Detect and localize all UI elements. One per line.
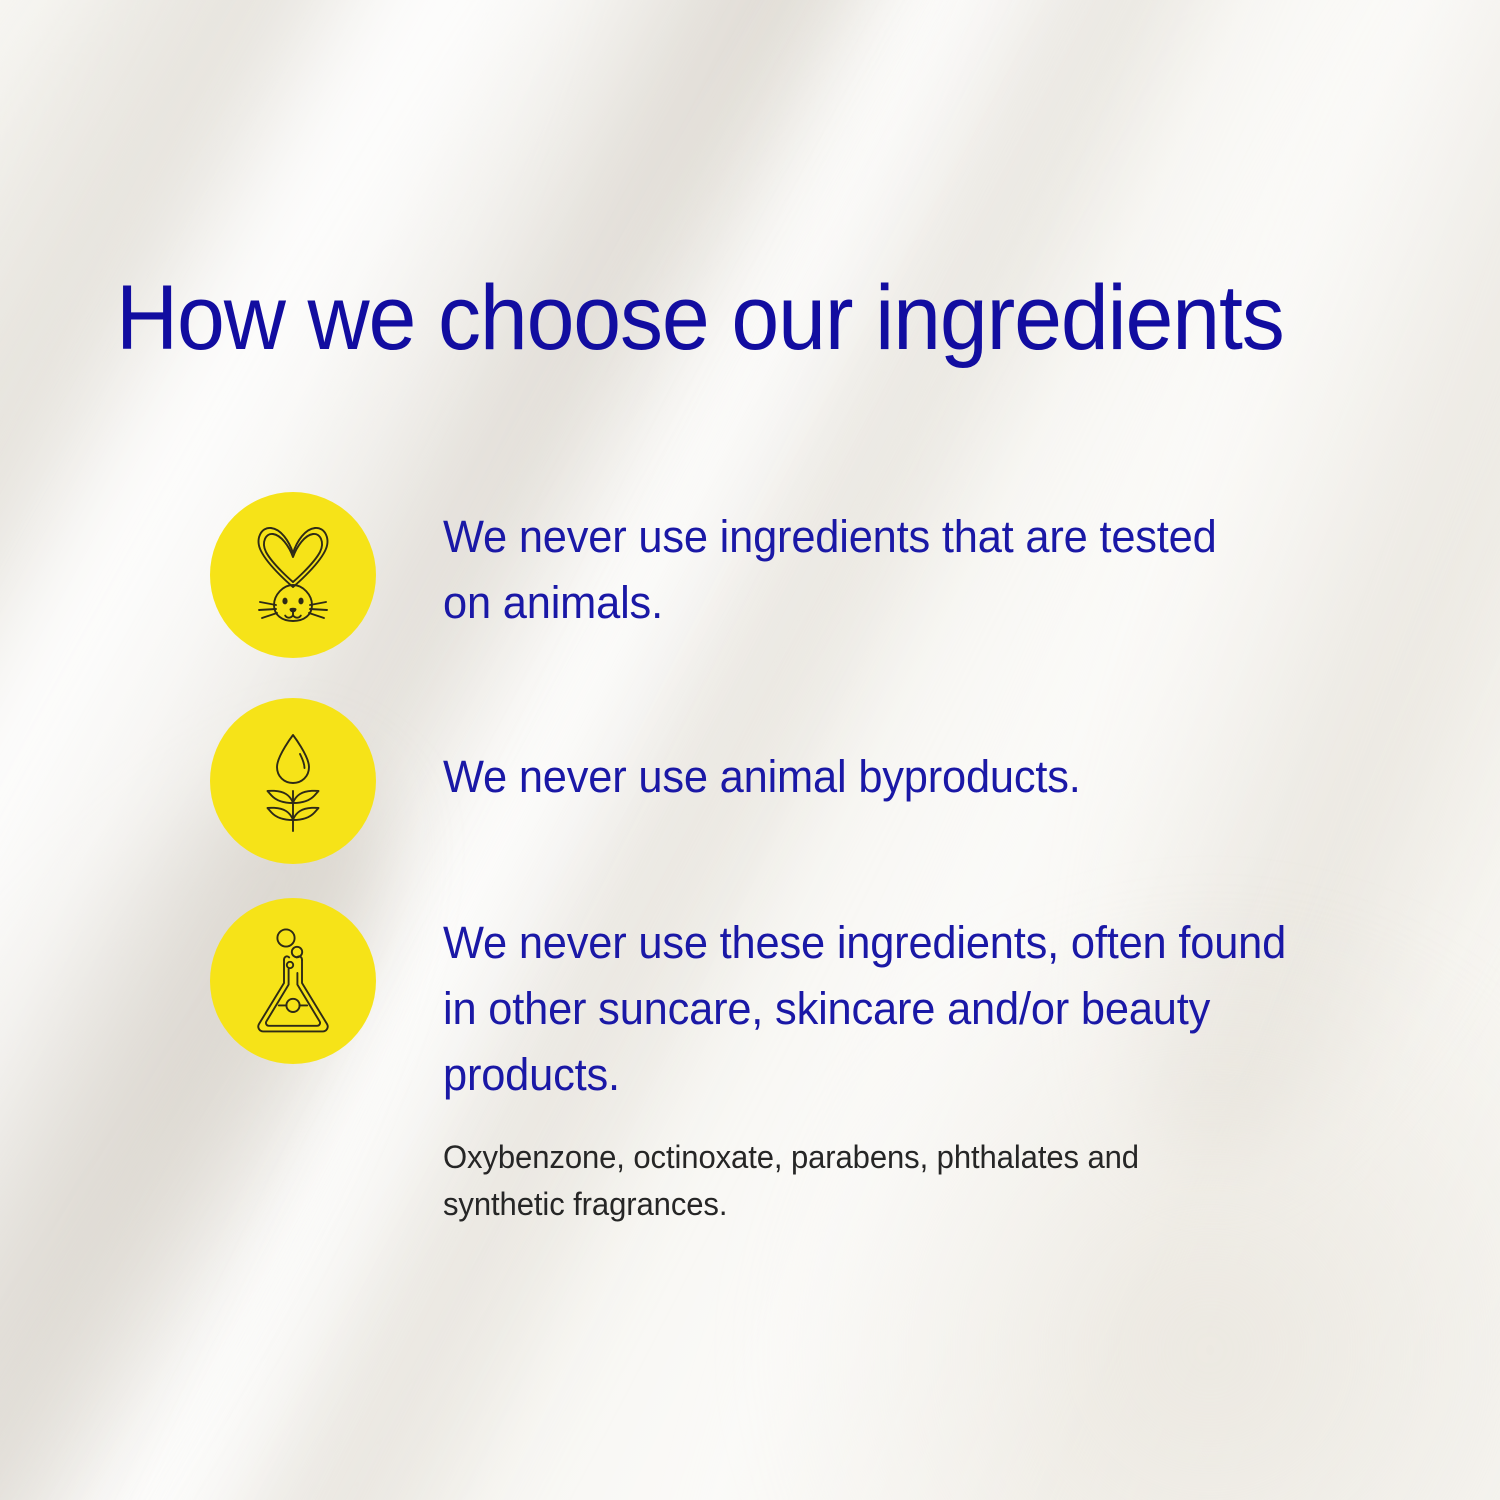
feature-text-wrap: We never use these ingredients, often fo… <box>443 898 1363 1228</box>
feature-text-wrap: We never use animal byproducts. <box>443 698 1343 810</box>
feature-text-wrap: We never use ingredients that are tested… <box>443 492 1283 636</box>
feature-text: We never use ingredients that are tested… <box>443 504 1254 636</box>
page-content: How we choose our ingredients <box>0 0 1500 1500</box>
list-item: We never use ingredients that are tested… <box>0 492 1500 658</box>
feature-text: We never use animal byproducts. <box>443 710 1312 810</box>
droplet-plant-icon <box>210 698 376 864</box>
list-item: We never use these ingredients, often fo… <box>0 898 1500 1228</box>
page-title: How we choose our ingredients <box>116 272 1350 364</box>
bunny-heart-ears-icon <box>210 492 376 658</box>
feature-text: We never use these ingredients, often fo… <box>443 910 1331 1108</box>
erlenmeyer-flask-icon <box>210 898 376 1064</box>
list-item: We never use animal byproducts. <box>0 698 1500 864</box>
feature-subtext: Oxybenzone, octinoxate, parabens, phthal… <box>443 1134 1238 1227</box>
